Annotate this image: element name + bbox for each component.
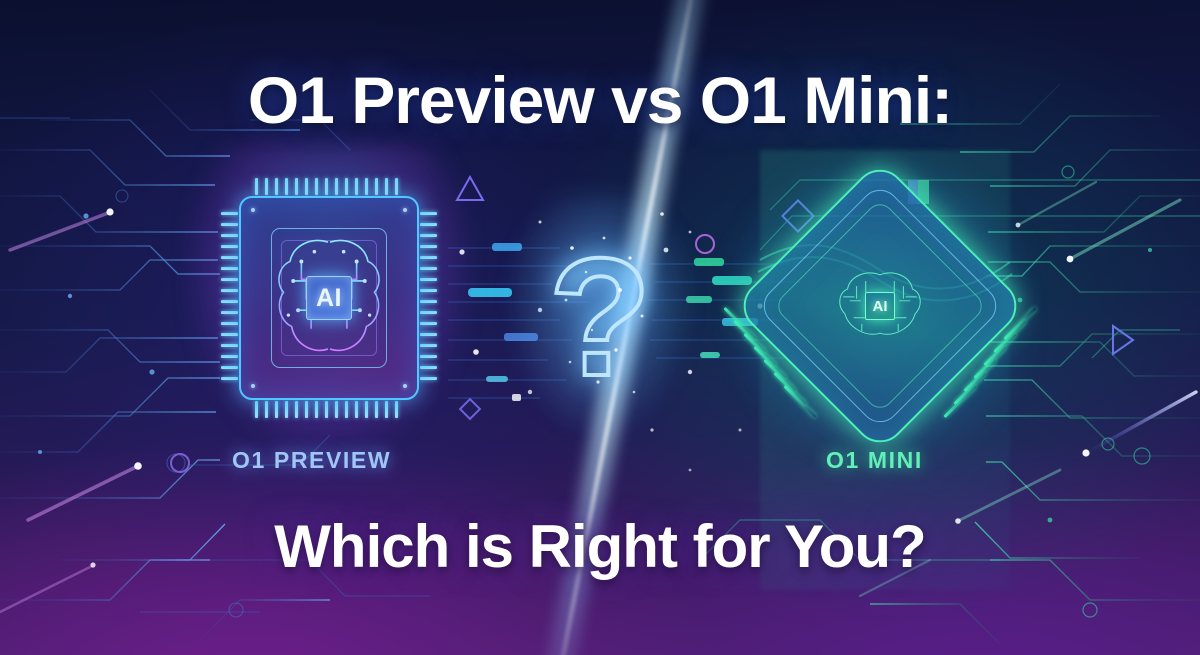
poster-canvas: AI bbox=[0, 0, 1200, 655]
o1-preview-label: O1 PREVIEW bbox=[232, 447, 391, 474]
chip-pins-left bbox=[221, 212, 239, 384]
ai-badge-left: AI bbox=[306, 276, 352, 320]
o1-mini-chip: AI bbox=[776, 202, 984, 410]
o1-preview-chip: AI bbox=[221, 178, 437, 418]
ai-badge-right: AI bbox=[865, 292, 895, 320]
page-title: O1 Preview vs O1 Mini: bbox=[0, 62, 1200, 138]
circle-outline bbox=[696, 235, 714, 253]
play-triangle-outline bbox=[1113, 326, 1133, 354]
question-mark-icon: ? bbox=[545, 232, 655, 402]
chip-pins-bottom bbox=[255, 400, 405, 418]
o1-mini-label: O1 MINI bbox=[826, 447, 923, 474]
chip-pins-top bbox=[255, 178, 405, 196]
chip-pins-right bbox=[419, 212, 437, 384]
chip-body: AI bbox=[239, 196, 419, 400]
page-subtitle: Which is Right for You? bbox=[0, 512, 1200, 581]
